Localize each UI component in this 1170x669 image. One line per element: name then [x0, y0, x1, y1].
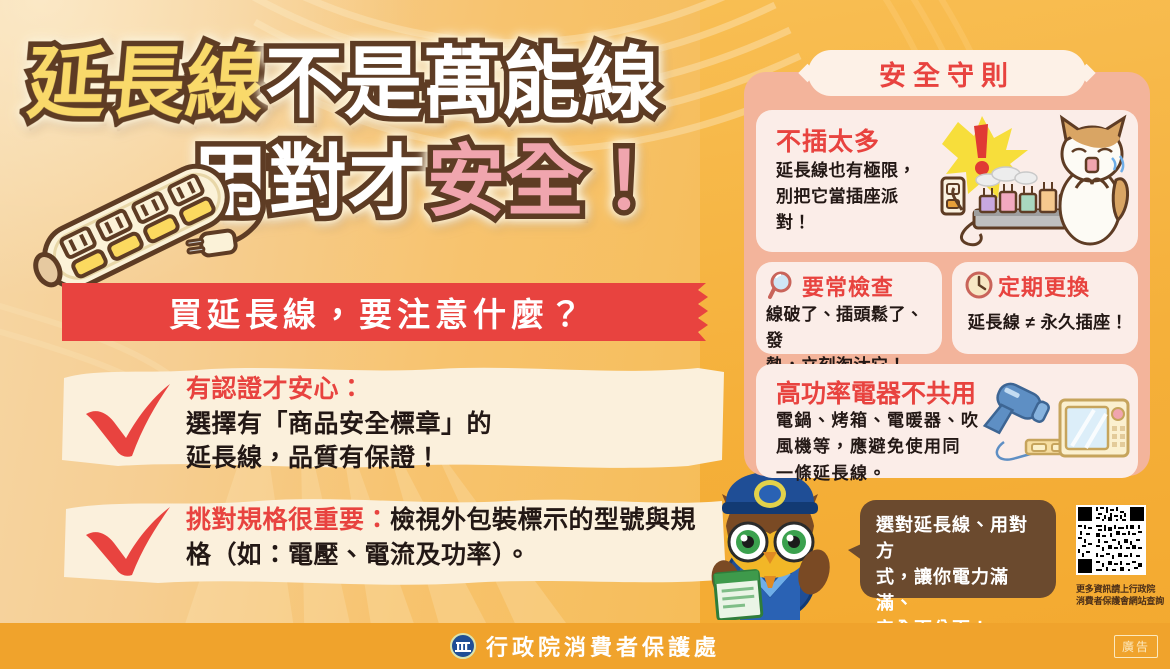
banner-text: 買延長線，要注意什麼？ — [62, 283, 694, 341]
check-lead-2: 挑對規格很重要： — [186, 506, 390, 534]
card-c-body: 延長線 ≠ 永久插座！ — [962, 308, 1134, 333]
red-check-icon — [80, 378, 176, 460]
callout-line2: 式，讓你電力滿滿、 — [876, 564, 1044, 616]
poster-root: 延長線不是萬能線 用對才安全！ — [0, 0, 1170, 669]
card-c-head: 定期更換 — [998, 270, 1090, 302]
safety-card-do-not-overload: 不插太多 延長線也有極限， 別把它當插座派 對！ — [756, 110, 1138, 252]
clock-icon — [964, 270, 994, 300]
qr-caption-line1: 更多資訊請上行政院 — [1076, 584, 1154, 596]
check-body-1b: 延長線，品質有保證！ — [186, 441, 586, 476]
card-d-line2: 風機等，應避免使用同 — [776, 434, 988, 460]
card-d-line1: 電鍋、烤箱、電暖器、吹 — [776, 408, 988, 434]
check-text-specification: 挑對規格很重要：檢視外包裝標示的型號與規 格（如：電壓、電流及功率）。 — [186, 503, 706, 572]
safety-card-no-high-power-sharing: 高功率電器不共用 電鍋、烤箱、電暖器、吹 風機等，應避免使用同 一條延長線。 — [756, 364, 1138, 478]
qr-code-block[interactable]: 更多資訊請上行政院 消費者保護會網站查詢 — [1076, 505, 1154, 601]
qr-caption-line2: 消費者保護會網站查詢 — [1076, 596, 1154, 608]
red-check-icon-2 — [80, 503, 176, 577]
ad-badge: 廣告 — [1114, 635, 1158, 658]
magnifier-icon — [768, 270, 798, 300]
banner-torn-edge — [692, 283, 730, 341]
check-row-specification: 挑對規格很重要：檢視外包裝標示的型號與規 格（如：電壓、電流及功率）。 — [58, 495, 730, 587]
executive-yuan-emblem-icon — [450, 633, 476, 659]
title-segment-white: 不是萬能線 — [265, 44, 660, 122]
title-segment-yellow: 延長線 — [25, 44, 269, 122]
card-d-line3: 一條延長線。 — [776, 461, 988, 487]
power-strip-illustration — [14, 150, 284, 300]
card-a-line2: 別把它當插座派 — [776, 184, 956, 210]
safety-rules-title-text: 安全守則 — [879, 54, 1015, 93]
card-d-body: 電鍋、烤箱、電暖器、吹 風機等，應避免使用同 一條延長線。 — [776, 408, 988, 487]
hair-dryer-and-microwave-illustration — [982, 378, 1130, 470]
card-a-line1: 延長線也有極限， — [776, 158, 956, 184]
owl-officer-mascot — [682, 468, 854, 620]
card-b-head: 要常檢查 — [802, 270, 894, 302]
safety-card-replace-regularly: 定期更換 延長線 ≠ 永久插座！ — [952, 262, 1138, 354]
bottom-callout: 選對延長線、用對方 式，讓你電力滿滿、 安全百分百！ — [860, 500, 1056, 598]
safety-rules-title: 安全守則 — [808, 50, 1086, 96]
check-body-1a: 選擇有「商品安全標章」的 — [186, 407, 586, 442]
qr-code-icon[interactable] — [1076, 505, 1146, 575]
check-body-2b: 格（如：電壓、電流及功率）。 — [186, 538, 706, 573]
card-a-line3: 對！ — [776, 210, 956, 236]
footer-text: 行政院消費者保護處 — [486, 630, 720, 662]
qr-caption: 更多資訊請上行政院 消費者保護會網站查詢 — [1076, 584, 1154, 607]
title-segment-pink: 安全！ — [427, 142, 664, 220]
card-a-body: 延長線也有極限， 別把它當插座派 對！ — [776, 158, 956, 235]
overloaded-power-strip-with-cat-illustration — [940, 114, 1132, 250]
check-body-2a: 檢視外包裝標示的型號與規 — [390, 506, 696, 534]
callout-line1: 選對延長線、用對方 — [876, 512, 1044, 564]
card-a-head: 不插太多 — [776, 122, 880, 158]
check-row-certification: 有認證才安心： 選擇有「商品安全標章」的 延長線，品質有保證！ 商品檢驗標識 經… — [58, 362, 730, 472]
title-line-1: 延長線不是萬能線 — [28, 44, 660, 122]
section-banner: 買延長線，要注意什麼？ — [62, 283, 728, 341]
card-d-head: 高功率電器不共用 — [776, 374, 976, 410]
check-text-certification: 有認證才安心： 選擇有「商品安全標章」的 延長線，品質有保證！ — [186, 372, 586, 476]
safety-card-inspect-often: 要常檢查 線破了、插頭鬆了、發 熱，立刻淘汰它！ — [756, 262, 942, 354]
check-line-2a: 挑對規格很重要：檢視外包裝標示的型號與規 — [186, 503, 706, 538]
check-lead-1: 有認證才安心： — [186, 372, 586, 407]
footer-bar: 行政院消費者保護處 — [0, 623, 1170, 669]
card-b-line1: 線破了、插頭鬆了、發 — [766, 302, 936, 353]
